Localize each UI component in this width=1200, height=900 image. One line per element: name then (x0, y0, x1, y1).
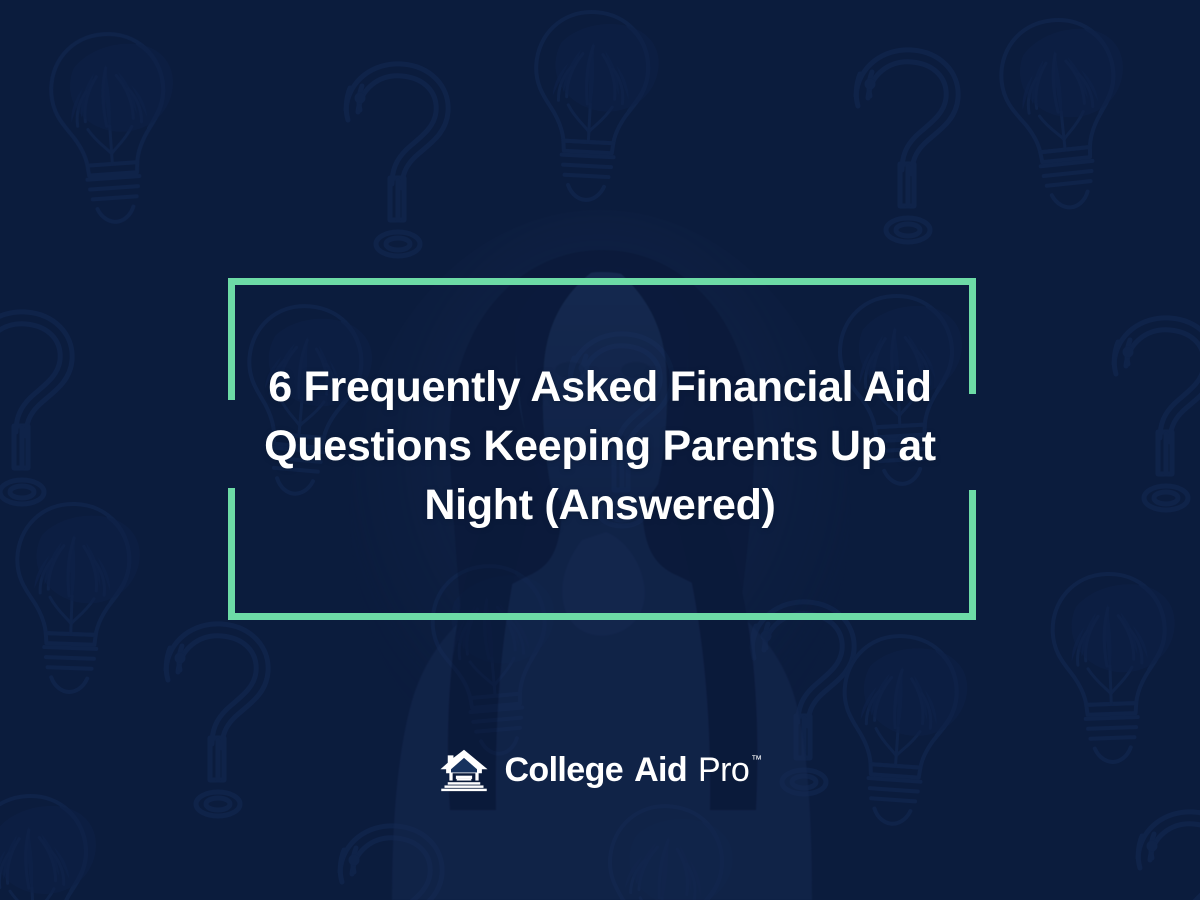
logo-wordmark: College Aid Pro ™ (504, 753, 761, 787)
frame-bottom-edge (228, 613, 976, 620)
featured-image-canvas: 6 Frequently Asked Financial Aid Questio… (0, 0, 1200, 900)
logo-word-college: College (504, 753, 623, 787)
page-title: 6 Frequently Asked Financial Aid Questio… (190, 358, 1010, 535)
trademark-symbol: ™ (751, 755, 761, 766)
frame-top-edge (228, 278, 976, 285)
college-aid-pro-logo: College Aid Pro ™ (0, 748, 1200, 792)
college-aid-pro-building-icon (438, 748, 490, 792)
logo-word-aid: Aid (634, 753, 687, 787)
logo-word-pro: Pro (698, 753, 749, 787)
